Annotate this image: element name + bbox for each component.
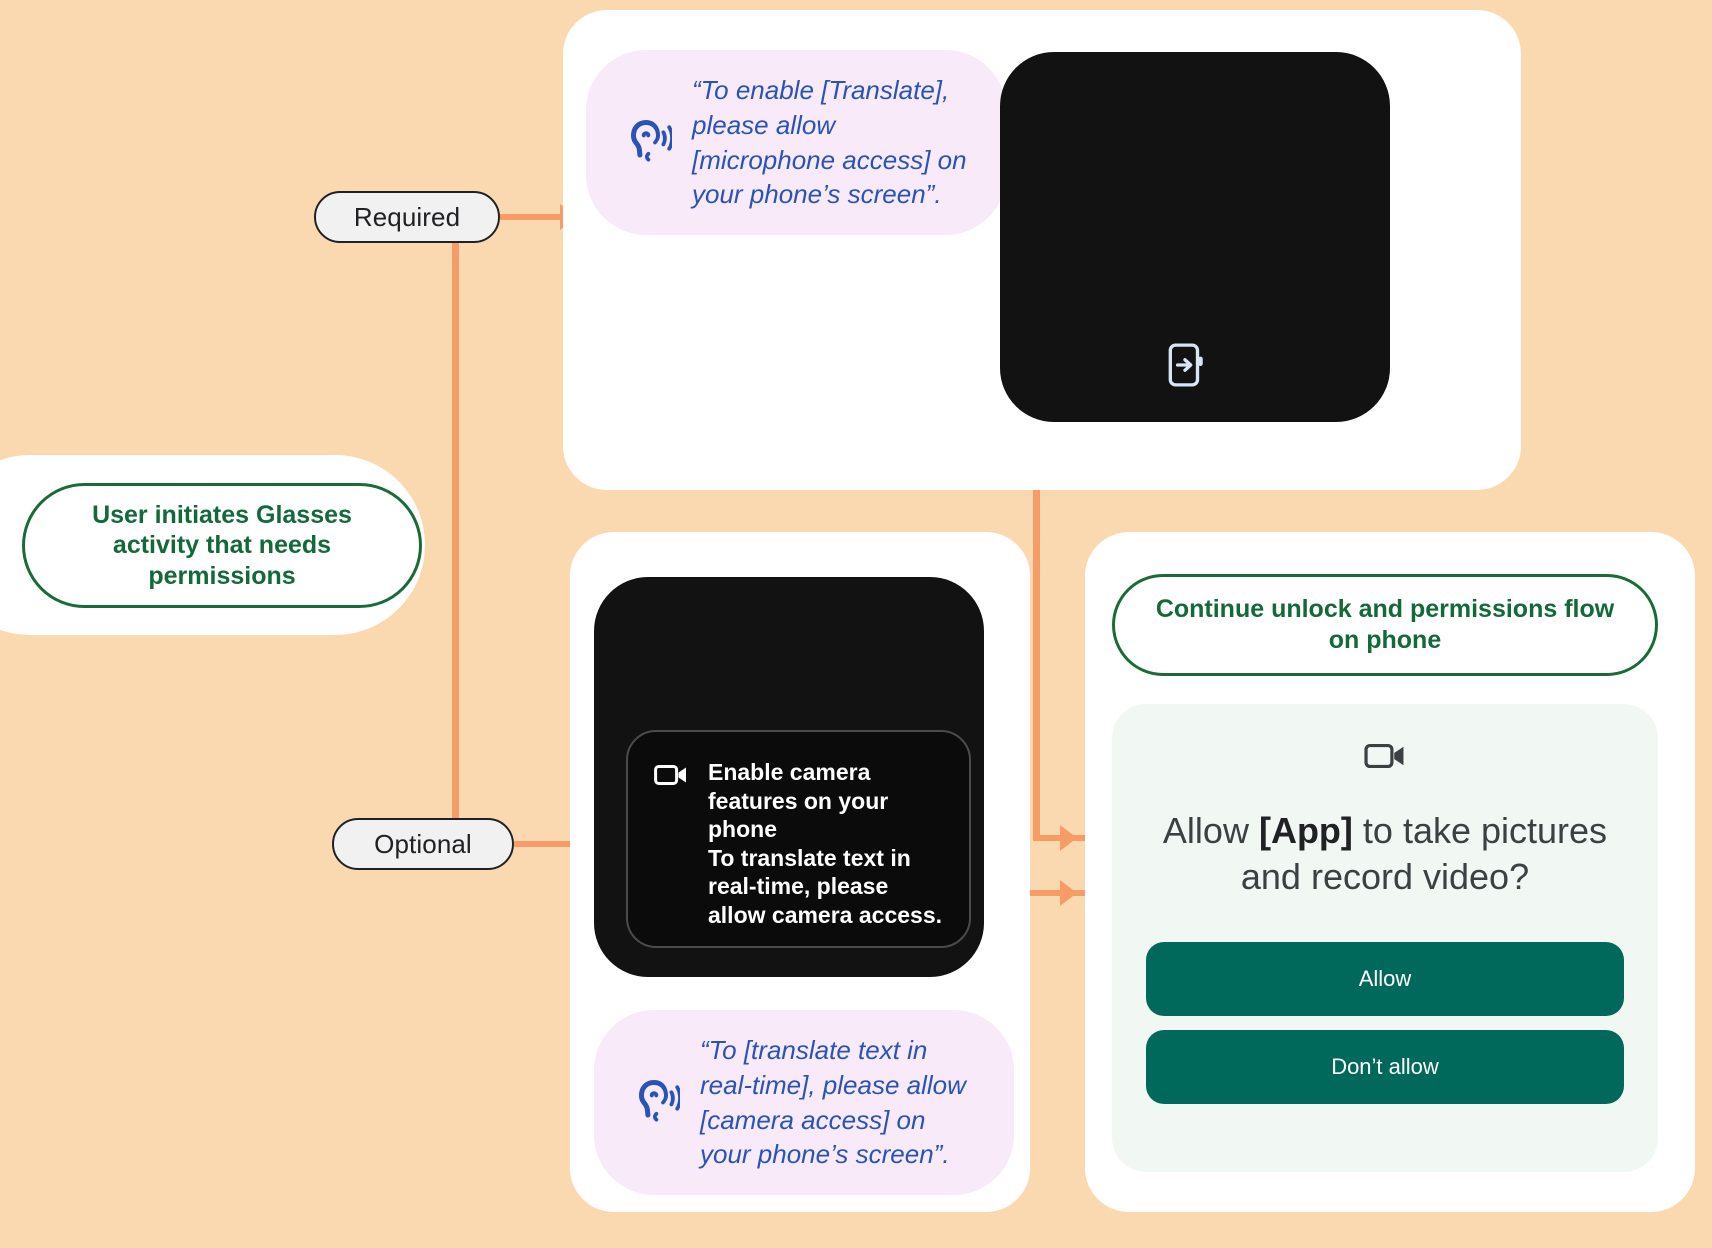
- question-prefix: Allow: [1163, 810, 1259, 851]
- optional-flow-panel: Enable camera features on your phone To …: [570, 532, 1030, 1212]
- camera-icon: [1364, 740, 1406, 782]
- toast-title: Enable camera features on your phone: [708, 759, 888, 842]
- hearing-icon: [634, 1077, 680, 1129]
- glasses-screen-required: [1000, 52, 1390, 422]
- phone-flow-heading[interactable]: Continue unlock and permissions flow on …: [1112, 574, 1658, 676]
- camera-icon: [654, 762, 688, 796]
- phone-unlock-icon: [1166, 342, 1212, 394]
- connector-optional-to-glasses: [514, 841, 578, 847]
- camera-permission-toast: Enable camera features on your phone To …: [626, 730, 971, 948]
- hearing-icon: [626, 117, 672, 169]
- dont-allow-button[interactable]: Don’t allow: [1146, 1030, 1624, 1104]
- toast-text: Enable camera features on your phone To …: [708, 758, 945, 920]
- phone-flow-panel: Continue unlock and permissions flow on …: [1085, 532, 1695, 1212]
- glasses-screen-optional: Enable camera features on your phone To …: [594, 577, 984, 977]
- phone-flow-heading-label: Continue unlock and permissions flow on …: [1150, 594, 1620, 657]
- connector-trunk-vertical: [452, 217, 459, 842]
- arrowhead-vertical-to-phone: [1060, 825, 1077, 851]
- arrowhead-glasses-to-phone: [1060, 880, 1077, 906]
- optional-speech-bubble: “To [translate text in real-time], pleas…: [594, 1010, 1014, 1195]
- permission-dialog: Allow [App] to take pictures and record …: [1112, 704, 1658, 1172]
- branch-pill-optional-label: Optional: [374, 829, 472, 860]
- diagram-canvas: User initiates Glasses activity that nee…: [0, 0, 1712, 1248]
- required-flow-panel: “To enable [Translate], please allow [mi…: [563, 10, 1521, 490]
- required-speech-bubble: “To enable [Translate], please allow [mi…: [586, 50, 1006, 235]
- branch-pill-required-label: Required: [354, 202, 460, 233]
- allow-button[interactable]: Allow: [1146, 942, 1624, 1016]
- required-bubble-text: “To enable [Translate], please allow [mi…: [692, 73, 972, 211]
- start-node-label: User initiates Glasses activity that nee…: [57, 500, 387, 592]
- permission-dialog-question: Allow [App] to take pictures and record …: [1146, 808, 1624, 900]
- connector-vertical-to-phone-h: [1033, 835, 1085, 841]
- toast-body: To translate text in real-time, please a…: [708, 844, 945, 930]
- branch-pill-required[interactable]: Required: [314, 191, 500, 243]
- branch-pill-optional[interactable]: Optional: [332, 818, 514, 870]
- optional-bubble-text: “To [translate text in real-time], pleas…: [700, 1033, 980, 1171]
- start-node[interactable]: User initiates Glasses activity that nee…: [22, 483, 422, 608]
- question-app-token: [App]: [1259, 810, 1353, 851]
- connector-required-to-bubble: [500, 214, 564, 220]
